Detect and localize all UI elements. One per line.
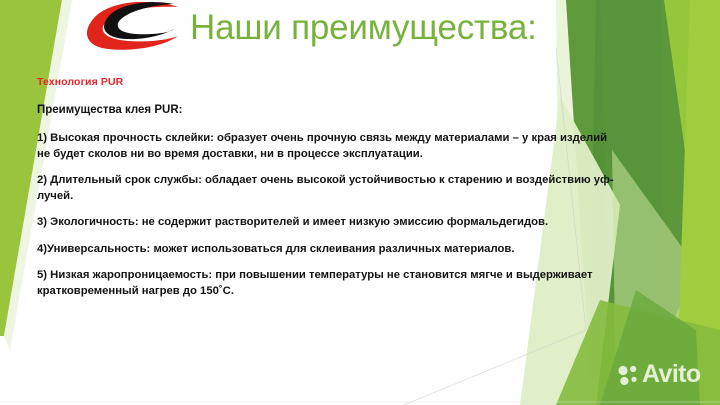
bg-hairline-lower — [404, 330, 586, 405]
slide-header: Наши преимущества: — [0, 0, 720, 62]
advantage-item-1: 1) Высокая прочность склейки: образует о… — [37, 131, 622, 162]
company-c-logo-icon — [82, 2, 186, 54]
presentation-slide: Наши преимущества: Технология PUR Преиму… — [0, 0, 720, 405]
avito-watermark: Avito — [617, 362, 701, 387]
section-lead: Преимущества клея PUR: — [37, 103, 637, 118]
advantage-item-4: 4)Универсальность: может использоваться … — [37, 242, 622, 258]
avito-wordmark: Avito — [642, 362, 701, 387]
section-subheading: Технология PUR — [37, 75, 637, 90]
advantage-item-2: 2) Длительный срок службы: обладает очен… — [37, 173, 622, 204]
slide-body: Технология PUR Преимущества клея PUR: 1)… — [37, 75, 637, 299]
avito-dots-icon — [617, 364, 639, 386]
advantage-item-3: 3) Экологичность: не содержит растворите… — [37, 215, 622, 231]
advantage-item-5: 5) Низкая жаропроницаемость: при повышен… — [37, 268, 622, 299]
bg-shape-bottom-right-mid — [556, 300, 720, 405]
slide-title: Наши преимущества: — [190, 6, 537, 50]
